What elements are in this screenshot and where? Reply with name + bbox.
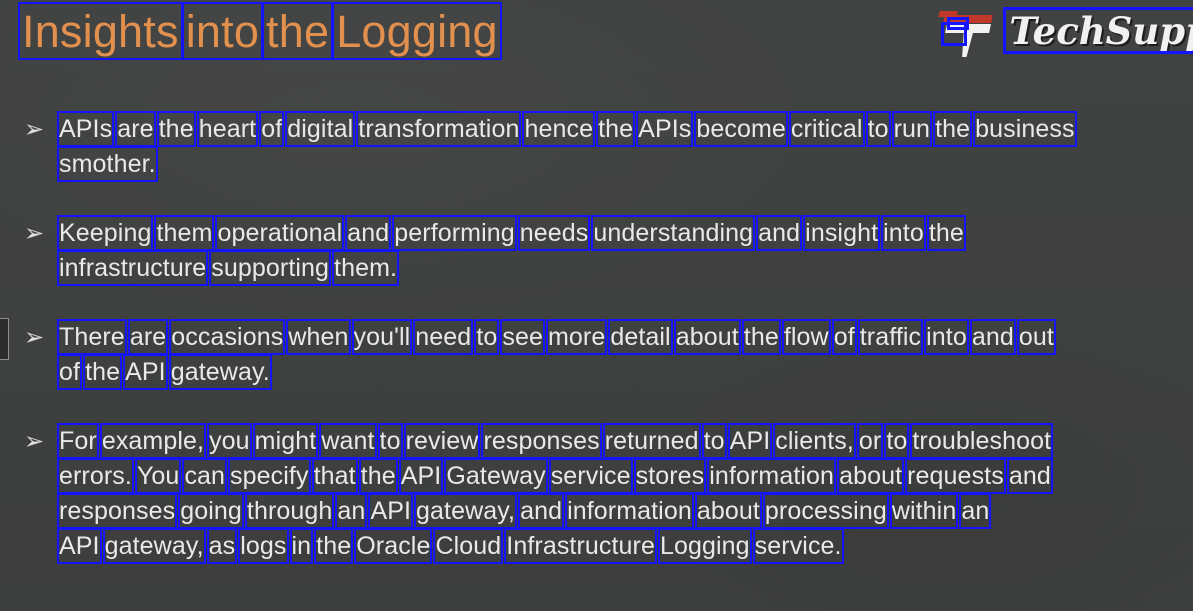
bullet-word: business (975, 112, 1074, 147)
bullet-word: smother. (59, 147, 156, 182)
bullet-word: information (709, 459, 834, 494)
bullet-word: to (476, 320, 497, 355)
bullet-word: to (868, 112, 889, 147)
bullet-line: errors.YoucanspecifythattheAPIGatewayser… (59, 459, 1182, 494)
bullet-word: service (551, 459, 631, 494)
bullet-word: within (892, 494, 957, 529)
page-title: InsightsintotheLogging (22, 6, 505, 58)
bullet-word: service. (755, 529, 842, 564)
bullet-word: Keeping (59, 216, 151, 251)
bullet-line: smother. (59, 147, 1182, 182)
bullet-word: occasions (171, 320, 283, 355)
bullet-arrow-icon: ➢ (24, 112, 44, 147)
bullet-word: logs (240, 529, 286, 564)
bullet-line: oftheAPIgateway. (59, 355, 1182, 390)
bullet-word: understanding (593, 216, 753, 251)
bullet-word: supporting (211, 251, 329, 286)
bullet-word: gateway, (105, 529, 204, 564)
bullet-word: troubleshoot (912, 424, 1051, 459)
bullet-word: you (209, 424, 250, 459)
bullet-word: might (255, 424, 317, 459)
bullet-arrow-icon: ➢ (24, 216, 44, 251)
bullet-word: need (415, 320, 471, 355)
bullet-word: stores (636, 459, 705, 494)
bullet-word: hence (524, 112, 593, 147)
bullet-word: traffic (860, 320, 921, 355)
bullet-word: about (697, 494, 760, 529)
bullet-word: can (184, 459, 225, 494)
bullet-word: to (886, 424, 907, 459)
bullet-word: API (370, 494, 411, 529)
bullet-word: become (696, 112, 786, 147)
bullet-word: of (834, 320, 855, 355)
bullet-word: see (502, 320, 543, 355)
bullet-text: Thereareoccasionswhenyou'llneedtoseemore… (59, 320, 1182, 390)
bullet-word: APIs (59, 112, 112, 147)
bullet-word: API (125, 355, 166, 390)
bullet-word: API (59, 529, 100, 564)
bullet-word: clients, (775, 424, 854, 459)
bullet-item: ➢Forexample,youmightwanttoreviewresponse… (22, 424, 1182, 564)
bullet-line: APIgateway,aslogsintheOracleCloudInfrast… (59, 529, 1182, 564)
bullet-arrow-icon: ➢ (24, 424, 44, 459)
bullet-word: information (567, 494, 692, 529)
bullet-word: processing (765, 494, 887, 529)
bullet-word: want (321, 424, 374, 459)
bullet-word: through (247, 494, 333, 529)
bullet-text: Forexample,youmightwanttoreviewresponses… (59, 424, 1182, 564)
bullet-word: of (59, 355, 80, 390)
bullet-word: Cloud (435, 529, 501, 564)
bullet-word: Oracle (356, 529, 430, 564)
bullet-word: them (156, 216, 212, 251)
bullet-word: heart (199, 112, 256, 147)
bullet-word: specify (230, 459, 309, 494)
bullet-word: detail (610, 320, 670, 355)
bullet-word: in (292, 529, 312, 564)
bullet-word: to (704, 424, 725, 459)
bullet-word: Gateway (446, 459, 545, 494)
techsupport-t-logo-icon (937, 2, 999, 60)
bullet-word: about (839, 459, 902, 494)
bullet-word: the (935, 112, 970, 147)
bullet-word: the (598, 112, 633, 147)
title-word: Insights (22, 6, 179, 58)
bullet-word: you'll (354, 320, 411, 355)
bullet-word: API (730, 424, 771, 459)
bullet-line: Forexample,youmightwanttoreviewresponses… (59, 424, 1182, 459)
bullet-word: about (676, 320, 739, 355)
bullet-line: infrastructuresupportingthem. (59, 251, 1182, 286)
bullet-word: the (316, 529, 351, 564)
title-word: the (266, 6, 329, 58)
bullet-arrow-icon: ➢ (24, 320, 44, 355)
bullet-word: responses (483, 424, 599, 459)
bullet-word: more (548, 320, 605, 355)
bullet-word: of (261, 112, 282, 147)
bullet-word: critical (791, 112, 863, 147)
bullet-word: the (744, 320, 779, 355)
bullet-word: performing (394, 216, 515, 251)
bullet-word: For (59, 424, 97, 459)
bullet-word: them. (334, 251, 397, 286)
bullet-word: the (85, 355, 120, 390)
bullet-word: transformation (358, 112, 519, 147)
bullet-word: flow (784, 320, 829, 355)
bullet-word: are (117, 112, 153, 147)
title-word: into (186, 6, 259, 58)
bullet-word: Logging (660, 529, 750, 564)
bullet-word: There (59, 320, 125, 355)
brand-name: TechSupp (1009, 10, 1193, 52)
bullet-word: an (337, 494, 365, 529)
title-word: Logging (336, 6, 498, 58)
bullet-word: that (314, 459, 356, 494)
bullet-text: APIsaretheheartofdigitaltransformationhe… (59, 112, 1182, 182)
bullet-word: the (929, 216, 964, 251)
bullet-word: requests (907, 459, 1004, 494)
bullet-word: into (926, 320, 967, 355)
bullet-word: the (361, 459, 396, 494)
bullet-word: the (159, 112, 194, 147)
bullet-word: digital (287, 112, 353, 147)
bullet-word: returned (605, 424, 699, 459)
bullet-word: Infrastructure (506, 529, 655, 564)
bullet-word: insight (805, 216, 878, 251)
bullet-word: responses (59, 494, 175, 529)
slide-edge-tab[interactable] (0, 318, 9, 360)
bullet-line: Thereareoccasionswhenyou'llneedtoseemore… (59, 320, 1182, 355)
bullet-word: to (380, 424, 401, 459)
bullet-word: as (209, 529, 236, 564)
bullet-line: responsesgoingthroughanAPIgateway,andinf… (59, 494, 1182, 529)
bullet-word: needs (520, 216, 589, 251)
bullet-word: and (758, 216, 800, 251)
brand-block: TechSupp (937, 0, 1193, 62)
bullet-word: and (1009, 459, 1051, 494)
bullet-line: APIsaretheheartofdigitaltransformationhe… (59, 112, 1182, 147)
bullet-item: ➢Thereareoccasionswhenyou'llneedtoseemor… (22, 320, 1182, 390)
bullet-word: example, (102, 424, 204, 459)
bullet-text: Keepingthemoperationalandperformingneeds… (59, 216, 1182, 286)
bullet-line: Keepingthemoperationalandperformingneeds… (59, 216, 1182, 251)
bullet-word: and (347, 216, 389, 251)
bullet-word: operational (217, 216, 342, 251)
bullet-word: run (894, 112, 930, 147)
bullet-word: an (961, 494, 989, 529)
bullet-word: when (288, 320, 348, 355)
bullet-item: ➢Keepingthemoperationalandperformingneed… (22, 216, 1182, 286)
bullet-word: into (883, 216, 924, 251)
bullet-word: review (406, 424, 479, 459)
bullet-word: gateway. (171, 355, 270, 390)
bullet-word: or (859, 424, 881, 459)
bullet-word: and (520, 494, 562, 529)
bullet-list: ➢APIsaretheheartofdigitaltransformationh… (22, 112, 1182, 564)
presentation-slide: InsightsintotheLogging TechSupp ➢APIsare… (0, 0, 1193, 611)
bullet-word: out (1019, 320, 1054, 355)
bullet-word: You (137, 459, 180, 494)
ocr-box-logo (941, 22, 967, 46)
bullet-word: API (401, 459, 442, 494)
bullet-word: are (130, 320, 166, 355)
bullet-word: infrastructure (59, 251, 206, 286)
bullet-item: ➢APIsaretheheartofdigitaltransformationh… (22, 112, 1182, 182)
bullet-word: and (972, 320, 1014, 355)
bullet-word: APIs (638, 112, 691, 147)
bullet-word: gateway, (416, 494, 515, 529)
bullet-word: errors. (59, 459, 132, 494)
bullet-word: going (180, 494, 242, 529)
